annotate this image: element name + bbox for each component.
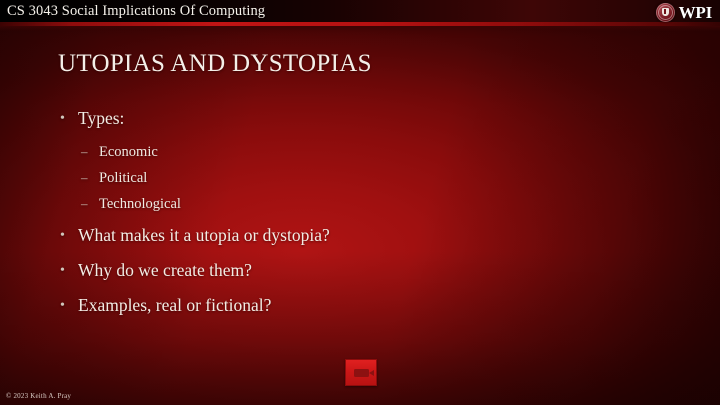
sub-bullet-marker-icon: – (81, 195, 88, 213)
video-camera-icon (354, 369, 369, 377)
bullet-marker-icon: • (60, 225, 65, 246)
sub-bullet-marker-icon: – (81, 169, 88, 187)
sub-bullet-list: – Economic – Political – Technological (58, 143, 658, 213)
sub-bullet-item: – Political (58, 169, 658, 187)
bullet-text: Types: (78, 108, 124, 128)
sub-bullet-item: – Economic (58, 143, 658, 161)
video-media-placeholder[interactable] (345, 359, 377, 386)
bullet-text: Examples, real or fictional? (78, 295, 271, 315)
slide-title: UTOPIAS AND DYSTOPIAS (58, 48, 372, 80)
bullet-text: Why do we create them? (78, 260, 252, 280)
sub-bullet-item: – Technological (58, 195, 658, 213)
course-title: CS 3043 Social Implications Of Computing (7, 1, 265, 21)
bullet-marker-icon: • (60, 295, 65, 316)
sub-bullet-marker-icon: – (81, 143, 88, 161)
bullet-text: What makes it a utopia or dystopia? (78, 225, 330, 245)
footer-copyright: © 2023 Keith A. Pray (6, 391, 71, 401)
sub-bullet-text: Political (99, 170, 147, 186)
bullet-item: • Why do we create them? (58, 260, 658, 281)
sub-bullet-text: Economic (99, 144, 158, 160)
bullet-marker-icon: • (60, 260, 65, 281)
wpi-logo: WPI (656, 1, 712, 23)
bullet-item: • What makes it a utopia or dystopia? (58, 225, 658, 246)
wpi-logo-text: WPI (679, 3, 712, 22)
bullet-item: • Types: (58, 108, 658, 129)
wpi-seal-icon (656, 3, 675, 22)
sub-bullet-text: Technological (99, 196, 181, 212)
shield-icon (662, 8, 669, 16)
slide-body: • Types: – Economic – Political – Techno… (58, 108, 658, 330)
bullet-marker-icon: • (60, 108, 65, 129)
header-accent-stripe-fade (0, 26, 720, 31)
bullet-item: • Examples, real or fictional? (58, 295, 658, 316)
presentation-slide: CS 3043 Social Implications Of Computing… (0, 0, 720, 405)
